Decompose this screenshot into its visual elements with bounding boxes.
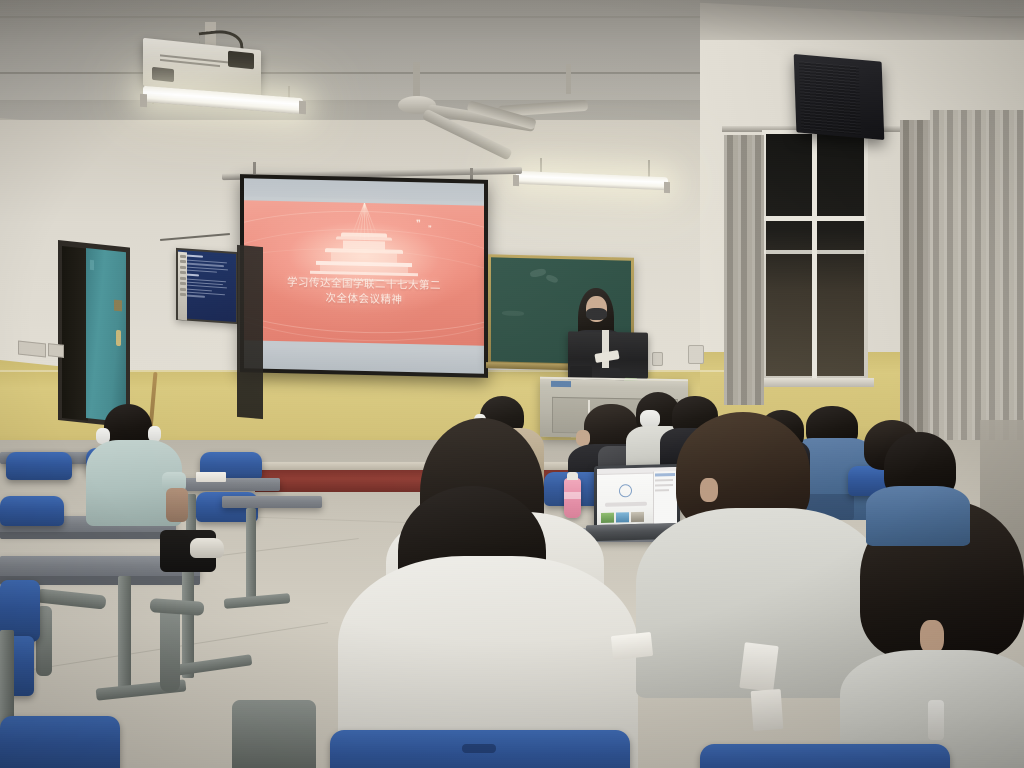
desk-leg [232, 700, 316, 768]
desk-leg [182, 560, 194, 678]
laptop-screen[interactable] [597, 467, 677, 525]
speaker-grille [799, 61, 861, 135]
dove-icon: ❞ [428, 224, 432, 232]
tiananmen-icon [309, 232, 419, 278]
presenter-mask [586, 308, 607, 320]
paper-sheet [739, 642, 778, 692]
student-ear [700, 478, 718, 502]
thumbnail [631, 512, 644, 522]
doorway-opening[interactable] [62, 246, 88, 421]
classroom-photo: ❞ ❞ 学习传达全国学联二十七大第二 次全体会议精神 [0, 0, 1024, 768]
window-mullion-vertical [812, 134, 817, 378]
screen-surface: ❞ ❞ 学习传达全国学联二十七大第二 次全体会议精神 [244, 178, 484, 373]
paper-sheet [196, 472, 226, 482]
wall-socket[interactable] [688, 345, 704, 364]
projector-lens [152, 67, 174, 82]
panel-row [655, 473, 675, 477]
tube-cap [140, 94, 147, 108]
desk-leg [118, 576, 131, 688]
desk-edge [0, 532, 176, 539]
screen-bracket [470, 168, 473, 180]
ceiling-fan-rod [413, 62, 420, 100]
door-decal [90, 260, 94, 270]
chair[interactable] [0, 716, 120, 768]
projection-screen: ❞ ❞ 学习传达全国学联二十七大第二 次全体会议精神 [240, 174, 488, 378]
notice-board-tab-strip [178, 252, 187, 321]
notice-board-secondary [237, 245, 263, 419]
paper-sheet [611, 632, 653, 660]
desk-leg [246, 508, 256, 600]
window-mullion-horizontal [764, 250, 866, 254]
shoe [190, 538, 224, 558]
student-body [866, 486, 970, 546]
bottle-label [564, 492, 581, 499]
content-circle [619, 484, 632, 497]
chair[interactable] [700, 744, 950, 768]
content-bar [605, 502, 647, 507]
tube-cap [664, 182, 670, 193]
screen-bracket [253, 162, 256, 174]
door-handle[interactable] [116, 330, 121, 347]
chair-arm-post [160, 606, 180, 692]
window-mullion-horizontal [764, 216, 866, 221]
projector-connector [228, 51, 254, 70]
curtain-right[interactable] [930, 110, 1024, 440]
light-hanger [648, 160, 650, 178]
paper-sheet [751, 689, 784, 731]
wall-socket[interactable] [48, 343, 64, 358]
slide-content: ❞ ❞ 学习传达全国学联二十七大第二 次全体会议精神 [244, 200, 484, 345]
thumbnail [601, 513, 614, 523]
curtain-left[interactable] [724, 135, 764, 405]
student-ear [920, 620, 944, 654]
tube-cap [299, 101, 306, 115]
desk [222, 496, 322, 508]
chair[interactable] [0, 496, 64, 526]
bottle-cap [567, 472, 578, 480]
student-arm [166, 488, 188, 522]
door-lock-plate [114, 300, 122, 312]
laptop[interactable] [594, 464, 680, 528]
dove-icon: ❞ [416, 218, 421, 229]
wall-switch[interactable] [652, 352, 663, 366]
window-sill [758, 378, 874, 387]
tube-cap [513, 175, 519, 186]
chair-handle [462, 744, 496, 753]
ceiling-hanger-rod [566, 64, 571, 94]
chair[interactable] [6, 452, 72, 480]
podium-label-plate [551, 381, 571, 387]
slide-title: 学习传达全国学联二十七大第二 次全体会议精神 [252, 274, 476, 309]
lanyard [928, 700, 944, 740]
wall-socket[interactable] [18, 341, 46, 358]
thumbnail [616, 512, 629, 522]
